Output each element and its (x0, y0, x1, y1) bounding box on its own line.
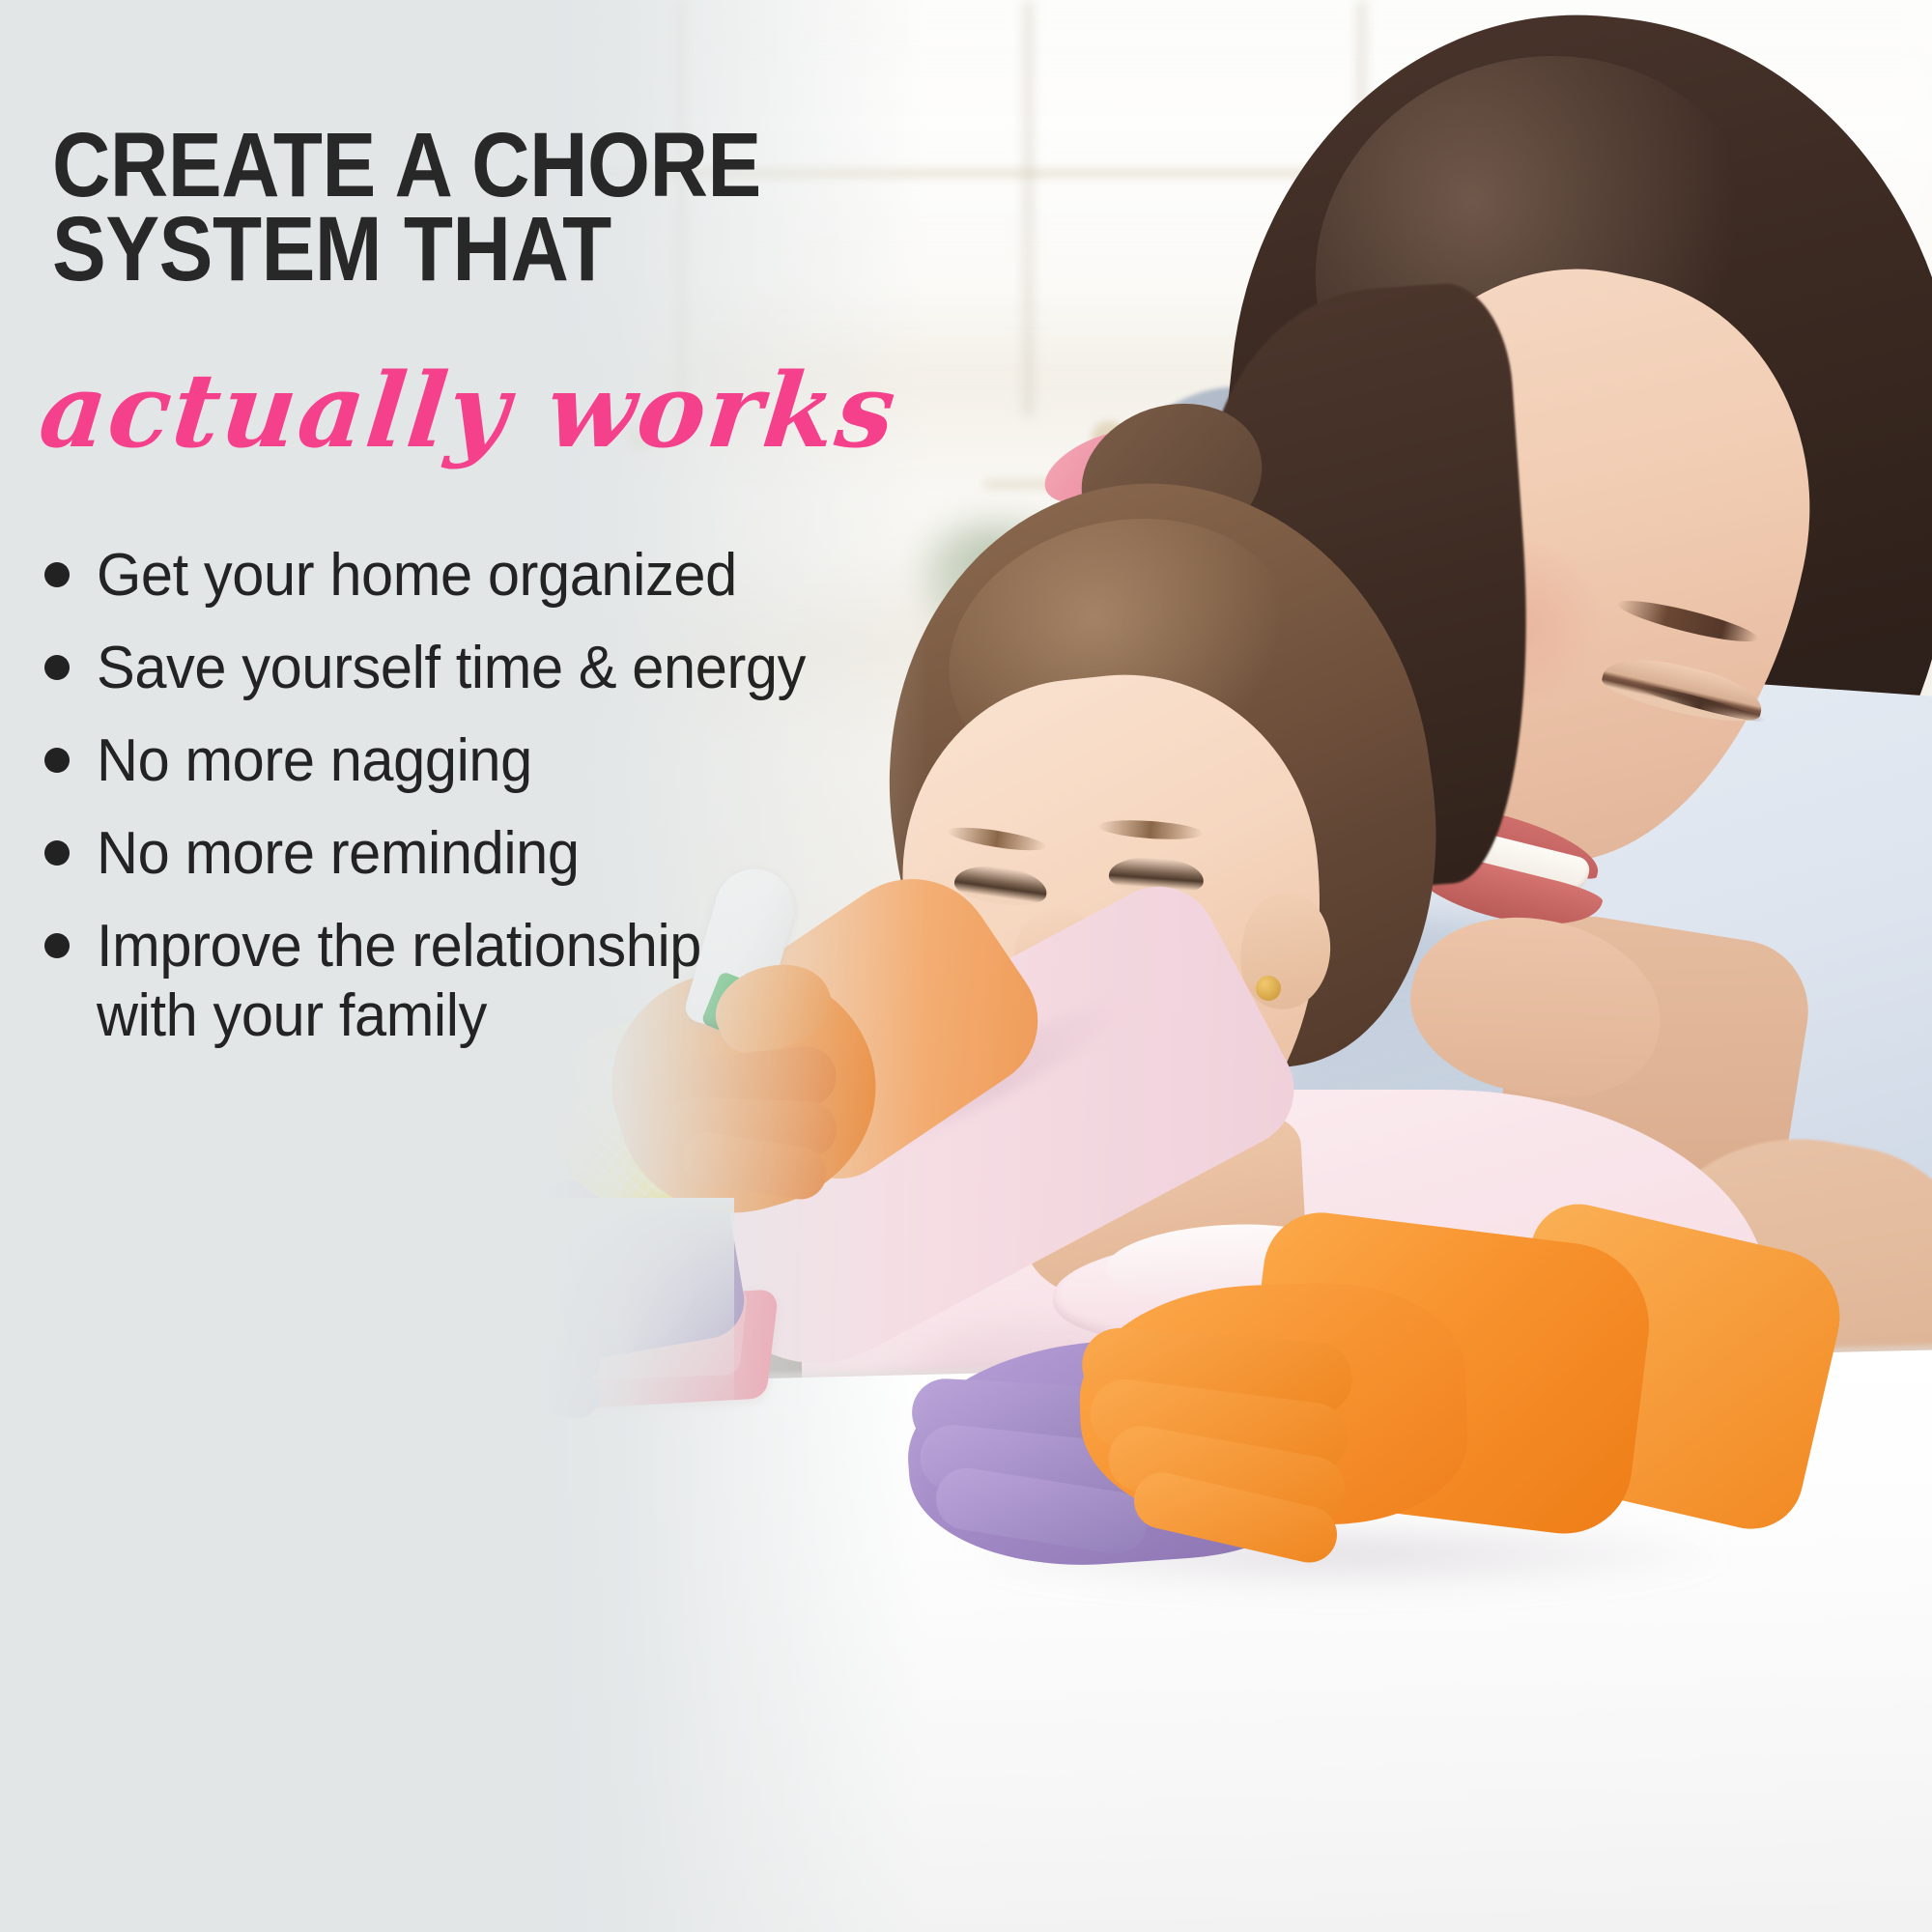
headline-line-2: SYSTEM THAT (52, 208, 868, 292)
headline-script-accent: actually works (35, 359, 901, 462)
list-item: No more nagging (44, 726, 972, 796)
list-item: Improve the relationship with your famil… (44, 912, 972, 1051)
list-item-label: No more reminding (97, 819, 580, 889)
benefit-list: Get your home organized Save yourself ti… (44, 541, 972, 1073)
bullet-dot-icon (44, 933, 70, 958)
bullet-dot-icon (44, 748, 70, 773)
text-overlay: CREATE A CHORE SYSTEM THAT actually work… (0, 0, 1014, 1159)
list-item-label: No more nagging (97, 726, 532, 796)
list-item: No more reminding (44, 819, 972, 889)
list-item-label: Save yourself time & energy (97, 634, 806, 703)
drawer-handle (124, 1256, 269, 1293)
bullet-dot-icon (44, 655, 70, 680)
cabinet-seam (1024, 0, 1033, 415)
list-item-label: Get your home organized (97, 541, 737, 611)
list-item-label: Improve the relationship with your famil… (97, 912, 701, 1051)
page-title: CREATE A CHORE SYSTEM THAT (52, 124, 868, 293)
list-item: Save yourself time & energy (44, 634, 972, 703)
headline-line-1: CREATE A CHORE (52, 124, 868, 208)
promo-graphic: CREATE A CHORE SYSTEM THAT actually work… (0, 0, 1932, 1932)
girl-earring (1256, 976, 1281, 1001)
bullet-dot-icon (44, 562, 70, 587)
bullet-dot-icon (44, 840, 70, 866)
list-item: Get your home organized (44, 541, 972, 611)
